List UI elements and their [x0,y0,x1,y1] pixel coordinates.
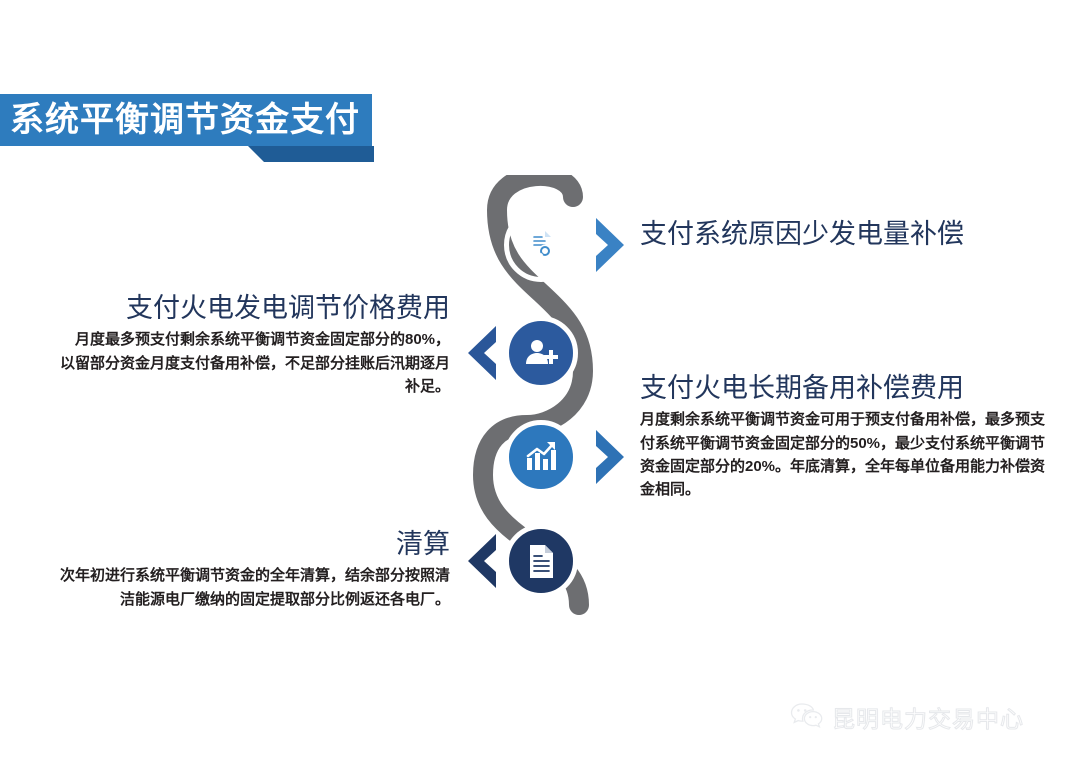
step-heading-4: 清算 [60,528,450,560]
step-text-3: 支付火电长期备用补偿费用 月度剩余系统平衡调节资金可用于预支付备用补偿，最多预支… [640,372,1050,501]
chevron-right-icon-1 [592,216,632,274]
step-circle-4[interactable] [504,524,578,598]
step-text-2: 支付火电发电调节价格费用 月度最多预支付剩余系统平衡调节资金固定部分的80%，以… [60,292,450,398]
document-search-icon [521,225,561,265]
chevron-left-icon-4 [460,532,500,590]
user-add-icon [522,334,560,372]
step-body-2: 月度最多预支付剩余系统平衡调节资金固定部分的80%，以留部分资金月度支付备用补偿… [60,328,450,398]
step-circle-3[interactable] [504,420,578,494]
growth-chart-icon [522,438,560,476]
page-title: 系统平衡调节资金支付 [0,103,360,137]
step-text-4: 清算 次年初进行系统平衡调节资金的全年清算，结余部分按照清洁能源电厂缴纳的固定提… [60,528,450,611]
document-icon [524,542,558,580]
step-body-4: 次年初进行系统平衡调节资金的全年清算，结余部分按照清洁能源电厂缴纳的固定提取部分… [60,564,450,611]
step-heading-2: 支付火电发电调节价格费用 [60,292,450,324]
title-banner-fold [248,146,374,162]
step-text-1: 支付系统原因少发电量补偿 [640,218,1040,254]
chevron-left-icon-2 [460,324,500,382]
watermark: 昆明电力交易中心 [790,700,1024,734]
step-heading-1: 支付系统原因少发电量补偿 [640,218,1040,250]
step-circle-1[interactable] [504,208,578,282]
watermark-text: 昆明电力交易中心 [832,700,1024,734]
chevron-right-icon-3 [592,428,632,486]
step-circle-2[interactable] [504,316,578,390]
wechat-icon [790,701,824,734]
step-body-3: 月度剩余系统平衡调节资金可用于预支付备用补偿，最多预支付系统平衡调节资金固定部分… [640,408,1050,501]
page-title-banner: 系统平衡调节资金支付 [0,94,372,146]
step-heading-3: 支付火电长期备用补偿费用 [640,372,1050,404]
